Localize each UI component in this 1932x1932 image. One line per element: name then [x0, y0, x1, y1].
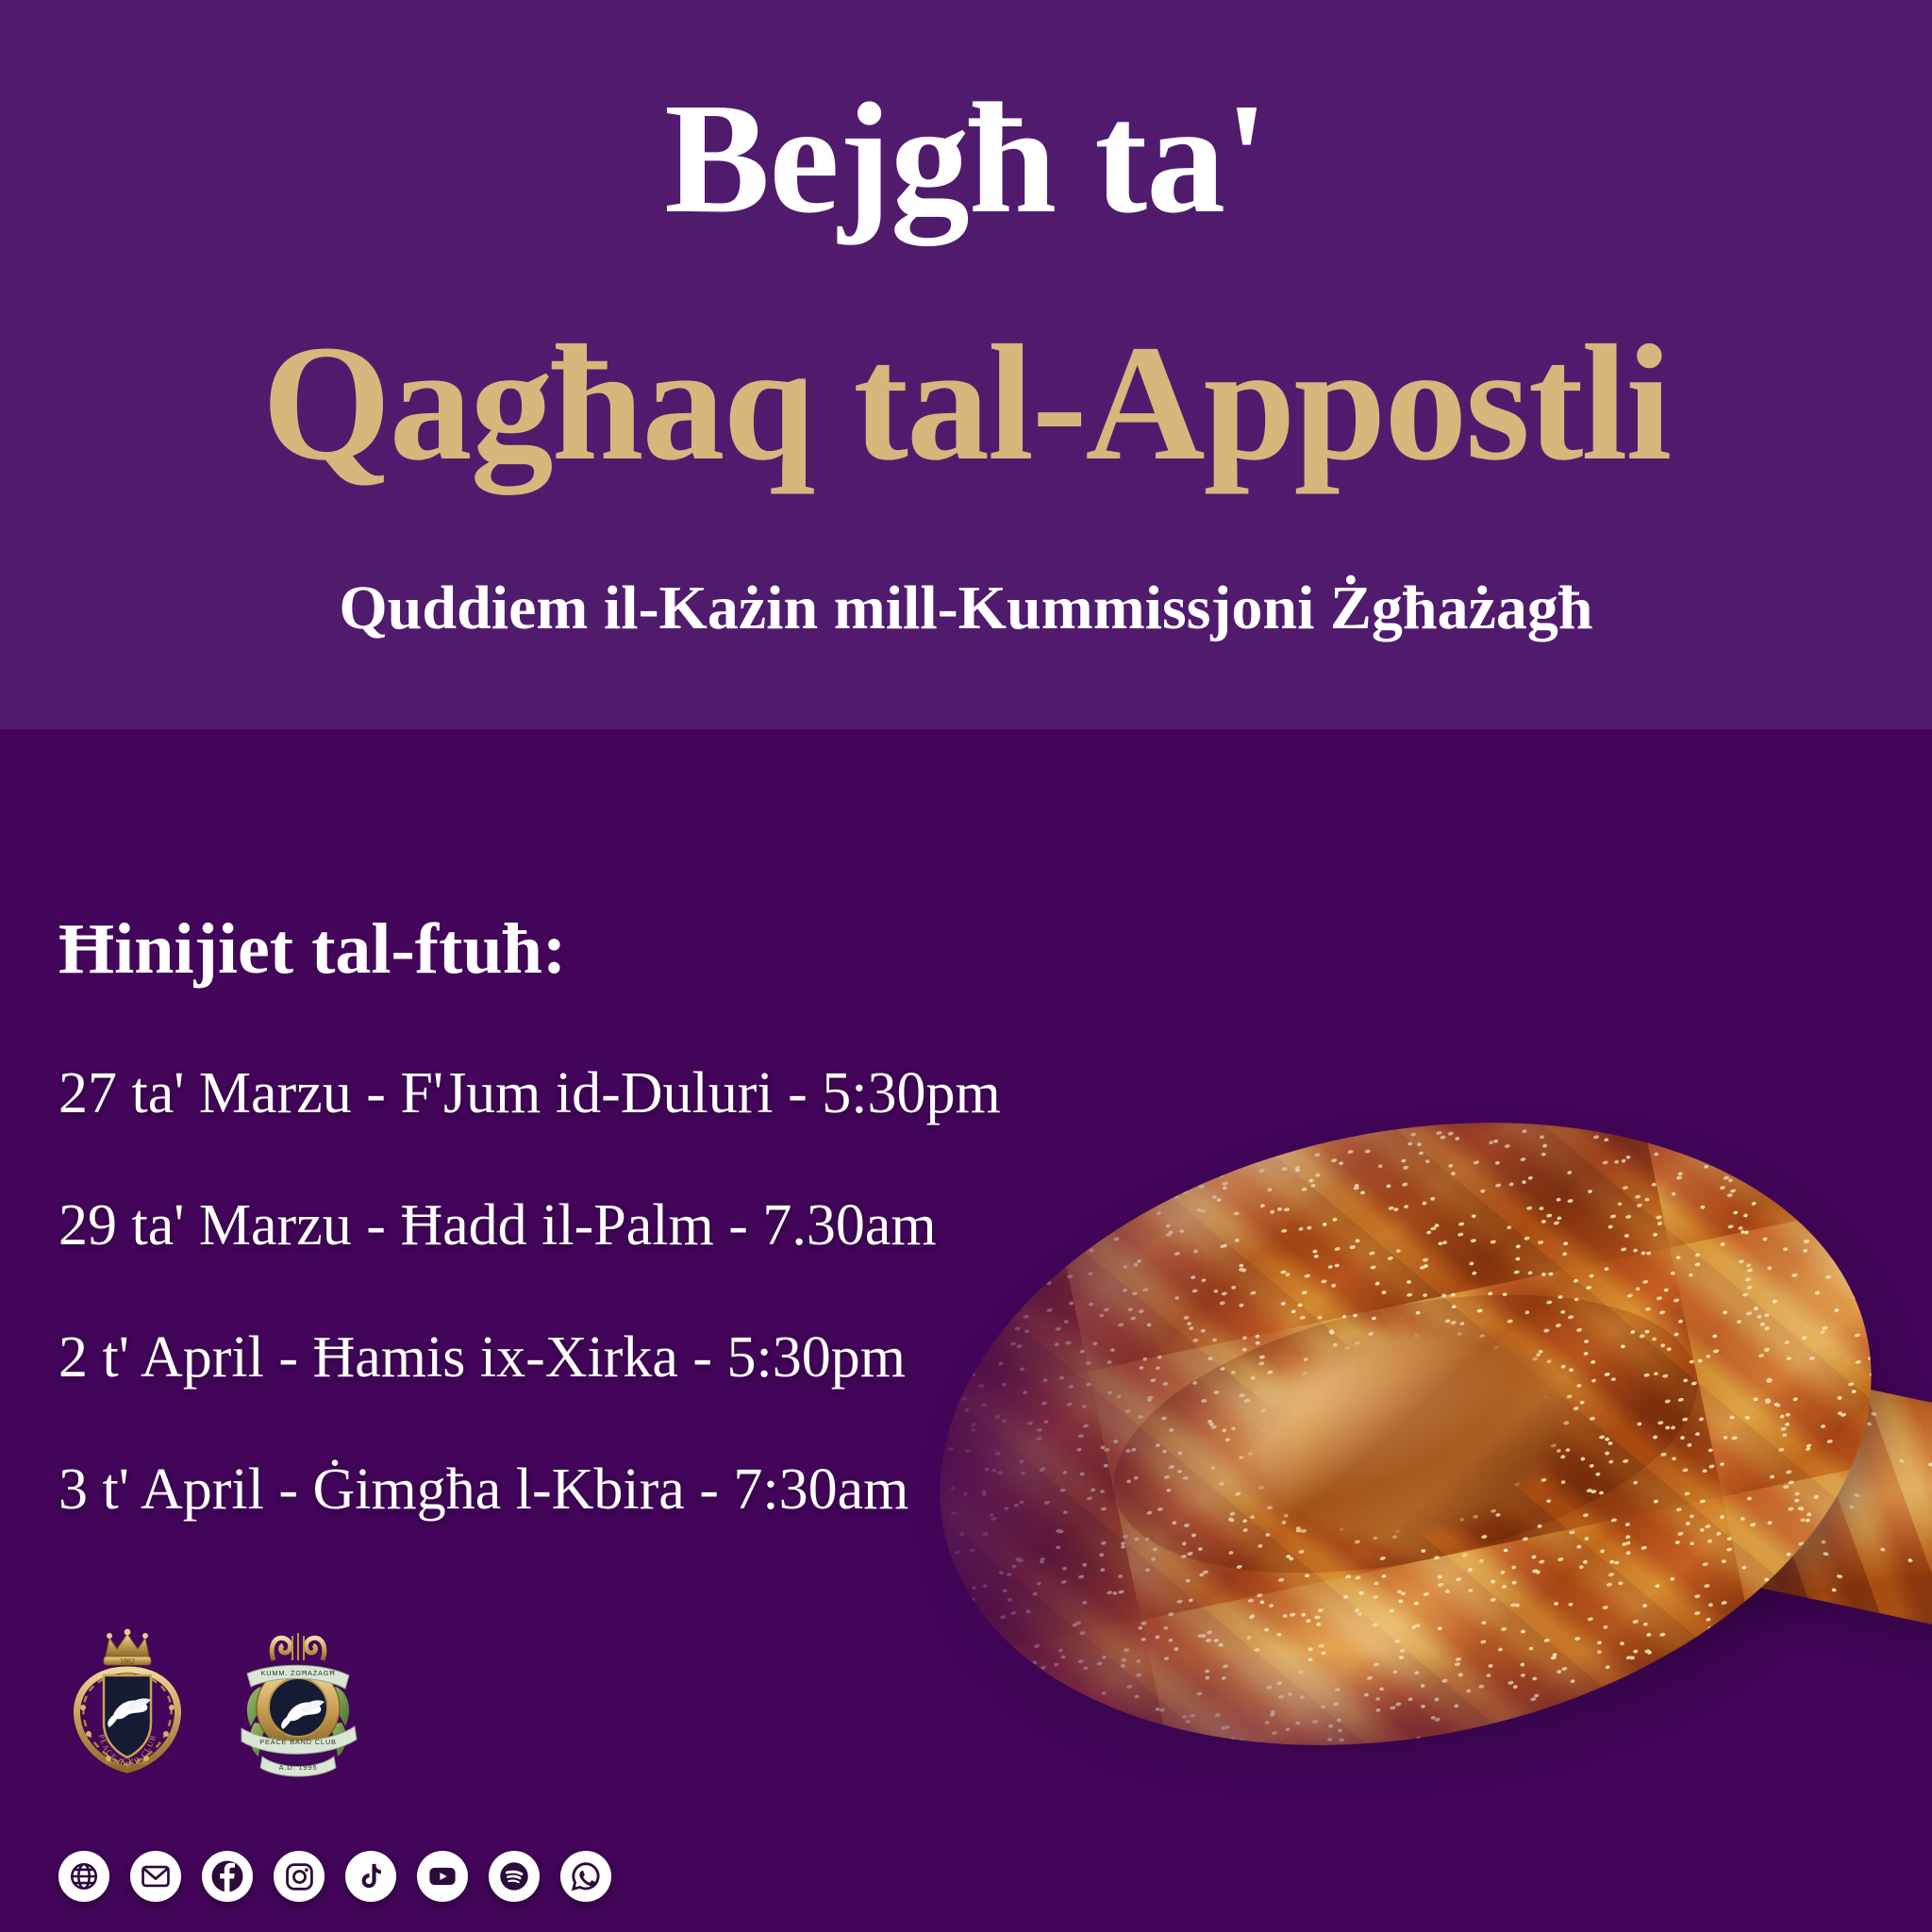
- schedule-item: 2 t' April - Ħamis ix-Xirka - 5:30pm: [58, 1328, 1001, 1387]
- crest-ribbon-top: KUMM. ŻGĦAŻAGĦ: [261, 1669, 336, 1677]
- schedule-item: 29 ta' Marzu - Ħadd il-Palm - 7.30am: [58, 1196, 1001, 1255]
- whatsapp-icon[interactable]: [560, 1851, 611, 1902]
- poster-title-line2: Qagħaq tal-Appostli: [0, 321, 1932, 487]
- bread-ring: [881, 1041, 1929, 1827]
- schedule-heading: Ħinijiet tal-ftuħ:: [58, 913, 566, 985]
- poster-subtitle: Quddiem il-Każin mill-Kummissjoni Żgħaża…: [0, 577, 1932, 640]
- schedule-item: 27 ta' Marzu - F'Jum id-Duluri - 5:30pm: [58, 1064, 1001, 1123]
- schedule-list: 27 ta' Marzu - F'Jum id-Duluri - 5:30pm …: [58, 1064, 1001, 1592]
- instagram-icon[interactable]: [274, 1851, 325, 1902]
- tiktok-icon[interactable]: [345, 1851, 396, 1902]
- spotify-icon[interactable]: [489, 1851, 540, 1902]
- peace-band-club-naxxar-crest: 1862 PEACE BAND CLUB NAXXAR: [57, 1621, 198, 1781]
- crest-year: 1862: [120, 1657, 135, 1666]
- facebook-icon[interactable]: [202, 1851, 253, 1902]
- crest-town-text: NAXXAR: [106, 1757, 149, 1766]
- youtube-icon[interactable]: [417, 1851, 468, 1902]
- crest-group: 1862 PEACE BAND CLUB NAXXAR: [57, 1621, 364, 1781]
- website-icon[interactable]: [58, 1851, 109, 1902]
- crest-ribbon-bottom: A.D. 1995: [279, 1763, 318, 1772]
- schedule-item: 3 t' April - Ġimgħa l-Kbira - 7:30am: [58, 1460, 1001, 1519]
- bread-photo-inner: [877, 1066, 1932, 1811]
- poster-title-line1: Bejgħ ta': [0, 79, 1932, 238]
- email-icon[interactable]: [130, 1851, 181, 1902]
- crest-ribbon-mid: PEACE BAND CLUB: [259, 1738, 336, 1746]
- header: Bejgħ ta' Qagħaq tal-Appostli Quddiem il…: [0, 0, 1932, 729]
- kummissjoni-zghazagh-crest: KUMM. ŻGĦAŻAGĦ PEACE BAND CLUB A.D. 1995: [232, 1621, 364, 1781]
- poster-root: Bejgħ ta' Qagħaq tal-Appostli Quddiem il…: [0, 0, 1932, 1932]
- bread-photo: [877, 1066, 1932, 1811]
- social-links: [58, 1851, 611, 1902]
